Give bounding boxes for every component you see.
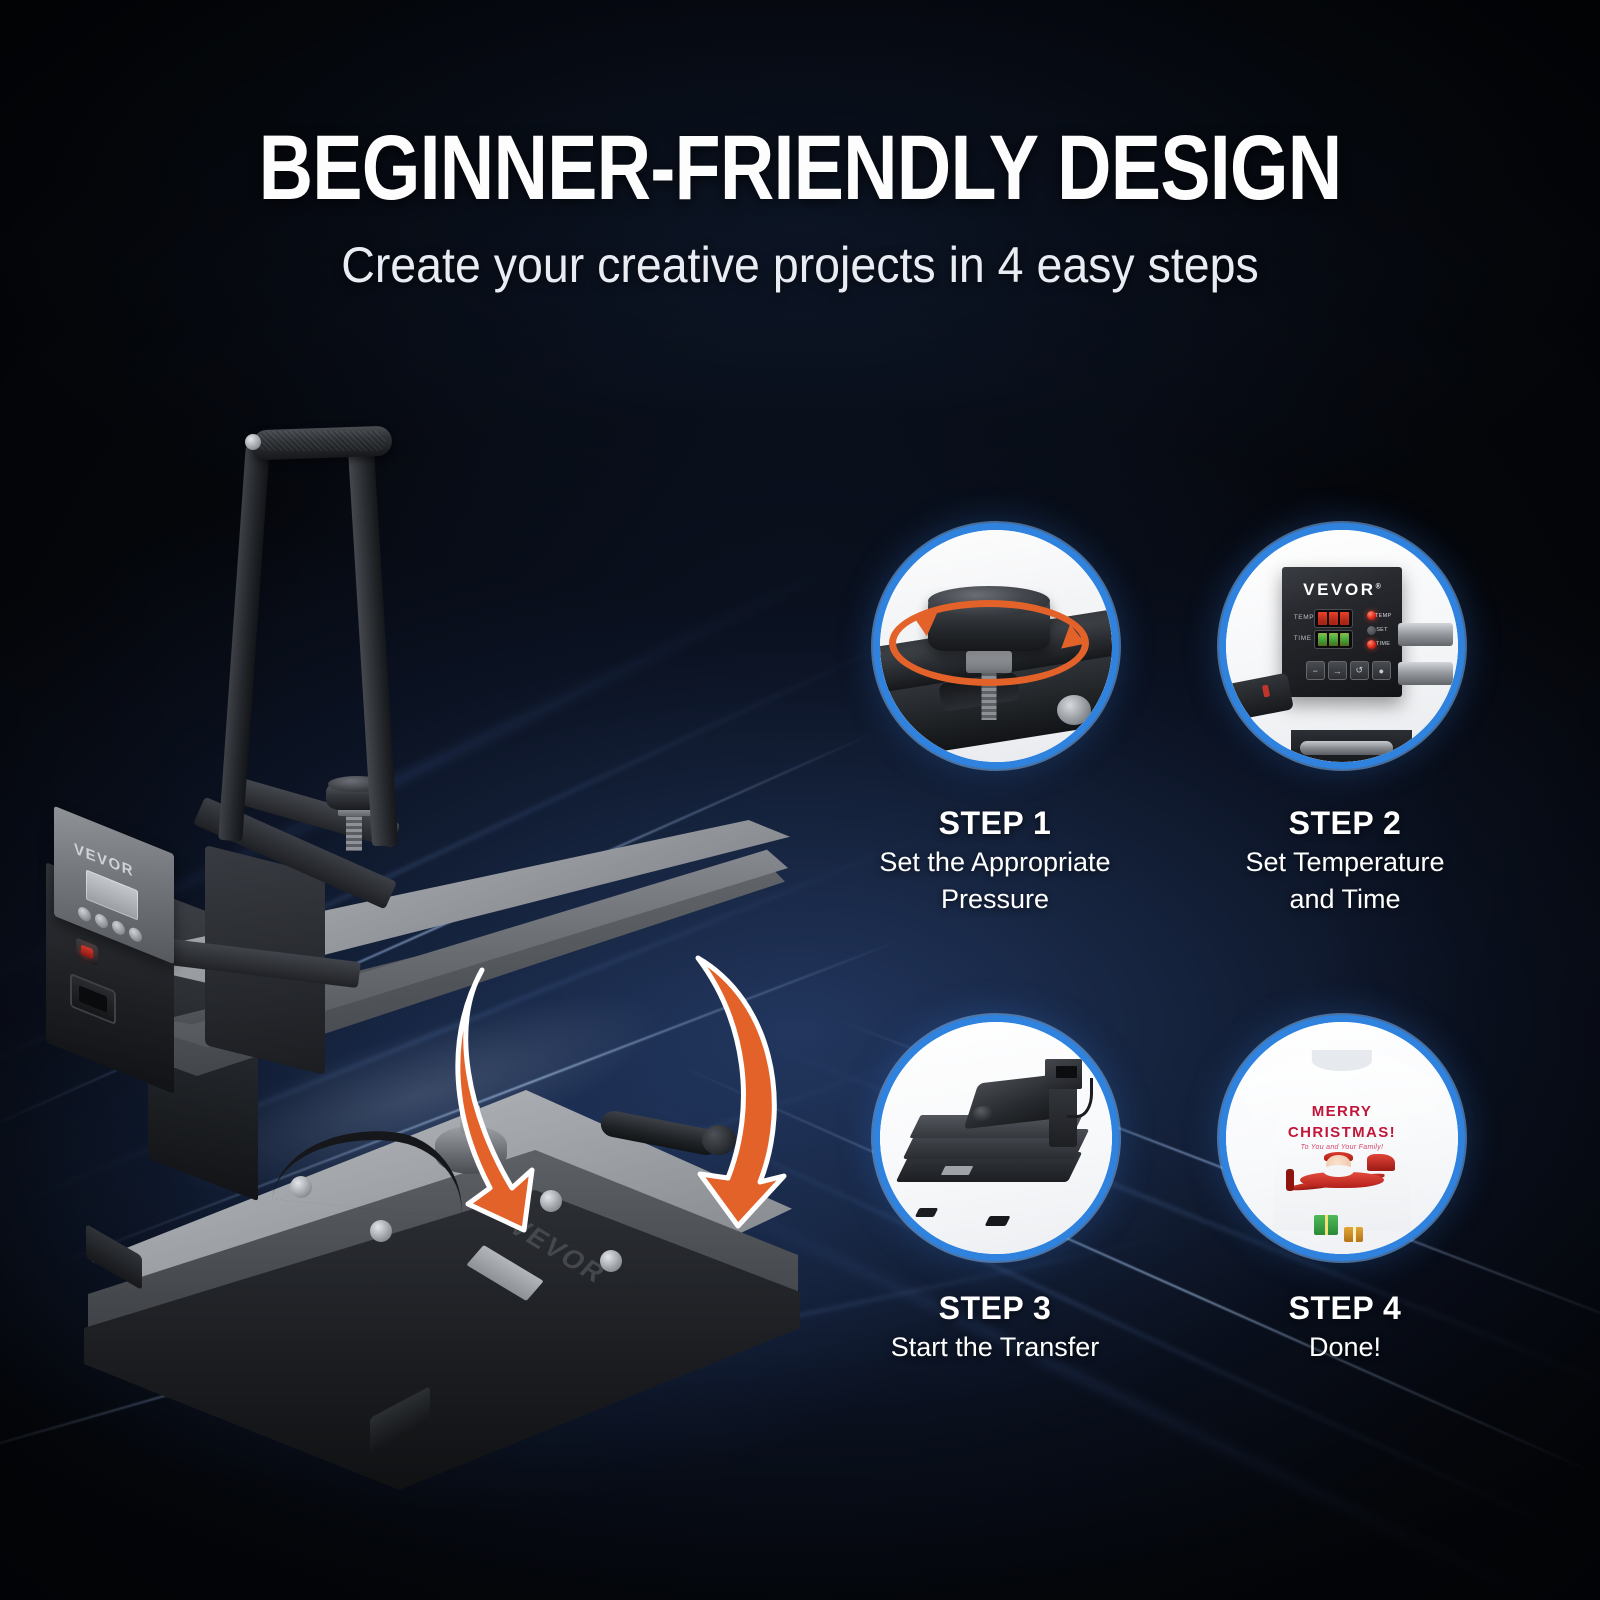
step-2-title: STEP 2 — [1195, 805, 1495, 842]
step-4-image: MERRY CHRISTMAS! To You and Your Family! — [1226, 1022, 1458, 1254]
step-3-spec-plate — [940, 1166, 972, 1175]
temperature-display — [1315, 610, 1352, 627]
temp-row-label: TEMP — [1294, 614, 1314, 621]
time-indicator-led — [1367, 640, 1376, 649]
base-foot-left — [86, 1224, 142, 1290]
step-3-controller-screen — [1056, 1066, 1077, 1078]
close-lid-arrow-left — [458, 970, 532, 1230]
handle-pivot-screw — [245, 434, 261, 450]
plane-propeller — [1286, 1169, 1294, 1190]
tshirt-print-line1: MERRY — [1226, 1103, 1458, 1120]
step-2-controller-box: VEVOR® TEMP TIME TEMP SET TIME − → — [1282, 567, 1403, 697]
step-2-desc-line2: and Time — [1195, 883, 1495, 916]
set-indicator-led — [1367, 626, 1376, 635]
minus-button[interactable]: − — [1306, 661, 1325, 680]
base-bolt-4 — [600, 1250, 622, 1272]
step-2-connector-bottom — [1398, 662, 1454, 685]
step-3-desc-line1: Start the Transfer — [845, 1331, 1145, 1364]
set-button[interactable]: ↺ — [1350, 661, 1369, 680]
page-title: BEGINNER-FRIENDLY DESIGN — [144, 122, 1456, 214]
step-2-desc-line1: Set Temperature — [1195, 846, 1495, 879]
handle-grip-texture — [258, 431, 386, 451]
step-1-desc-line1: Set the Appropriate — [845, 846, 1145, 879]
tshirt-print-line2: CHRISTMAS! — [1226, 1124, 1458, 1141]
time-display — [1315, 631, 1352, 648]
step-1-image — [880, 530, 1112, 762]
close-lid-arrows — [420, 930, 840, 1250]
step-3-title: STEP 3 — [845, 1290, 1145, 1327]
step-4-label: STEP 4 Done! — [1195, 1290, 1495, 1364]
tshirt-collar — [1312, 1050, 1372, 1071]
step-1-label: STEP 1 Set the Appropriate Pressure — [845, 805, 1145, 916]
plane-tail — [1367, 1154, 1396, 1171]
step-4-title: STEP 4 — [1195, 1290, 1495, 1327]
step-1-title: STEP 1 — [845, 805, 1145, 842]
power-button[interactable]: ● — [1372, 661, 1391, 680]
gift-box-green — [1314, 1215, 1338, 1235]
step-3-pressure-knob — [973, 1106, 994, 1122]
controller-brand: VEVOR® — [1282, 580, 1403, 600]
page-subtitle: Create your creative projects in 4 easy … — [56, 238, 1544, 293]
set-indicator-label: SET — [1376, 627, 1388, 633]
step-2-connector-top — [1398, 623, 1454, 646]
step-2-image: VEVOR® TEMP TIME TEMP SET TIME − → — [1226, 530, 1458, 762]
step-1-desc-line2: Pressure — [845, 883, 1145, 916]
shift-button[interactable]: → — [1328, 661, 1347, 680]
step-3-label: STEP 3 Start the Transfer — [845, 1290, 1145, 1364]
controller-keypad[interactable]: − → ↺ ● — [1306, 661, 1391, 680]
step-3-image — [880, 1022, 1112, 1254]
tshirt-print-line3: To You and Your Family! — [1226, 1144, 1458, 1151]
step-4-desc-line1: Done! — [1195, 1331, 1495, 1364]
heat-press-product-image: VEVOR — [40, 390, 830, 1460]
handle-arm-left — [218, 446, 269, 842]
step-2-roller — [1300, 741, 1393, 755]
product-banner: BEGINNER-FRIENDLY DESIGN Create your cre… — [0, 0, 1600, 1600]
step-2-label: STEP 2 Set Temperature and Time — [1195, 805, 1495, 916]
santa-plane-graphic — [1286, 1152, 1397, 1203]
step-1-side-bolt — [1057, 695, 1091, 725]
temp-indicator-label: TEMP — [1375, 613, 1391, 619]
base-bolt-2 — [370, 1220, 392, 1242]
time-row-label: TIME — [1294, 635, 1312, 642]
gift-box-gold — [1344, 1227, 1363, 1242]
time-indicator-label: TIME — [1376, 641, 1390, 647]
close-lid-arrow-right — [698, 958, 784, 1226]
